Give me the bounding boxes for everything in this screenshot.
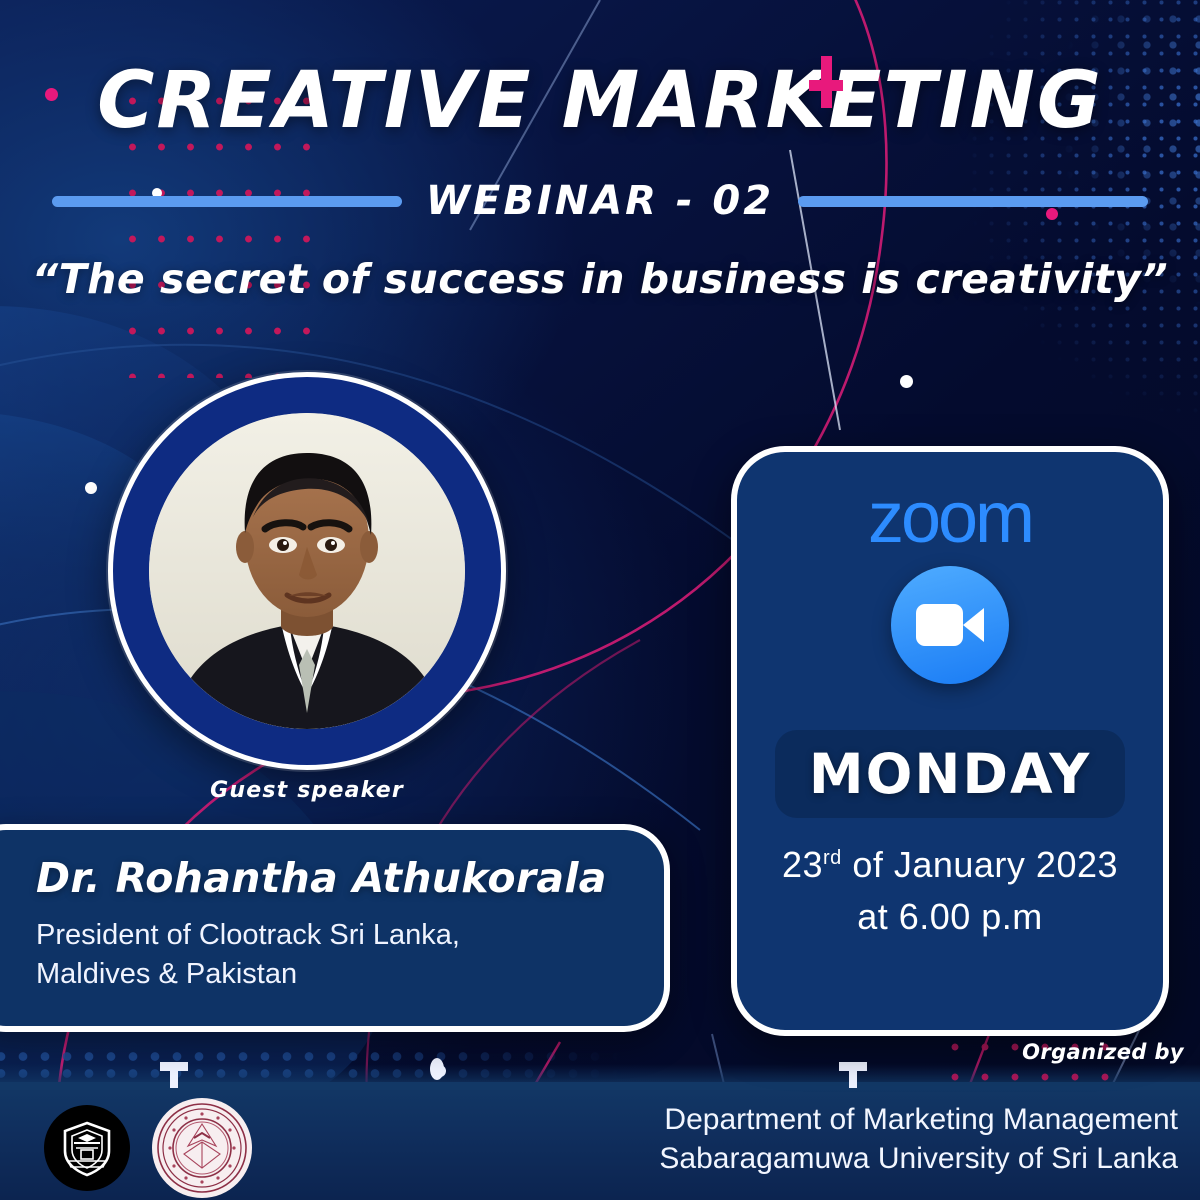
pin-marker-top (160, 1062, 188, 1071)
event-date-ordinal: rd (823, 847, 842, 869)
zoom-wordmark: zoom (868, 482, 1032, 554)
department-badge-logo (44, 1105, 130, 1191)
divider-right (798, 196, 1148, 207)
pin-marker-top (839, 1062, 867, 1071)
subtitle-row: WEBINAR - 02 (0, 178, 1200, 224)
sabaragamuwa-university-seal (152, 1098, 252, 1198)
speaker-info-card: Dr. Rohantha Athukorala President of Clo… (0, 824, 670, 1032)
speaker-role-line2: Maldives & Pakistan (36, 955, 634, 994)
camera-lens (963, 608, 984, 642)
speaker-role-line1: President of Clootrack Sri Lanka, (36, 916, 634, 955)
organizer-university: Sabaragamuwa University of Sri Lanka (659, 1139, 1178, 1178)
speaker-role: President of Clootrack Sri Lanka, Maldiv… (36, 916, 634, 994)
halftone-dots-bottom-left (0, 1048, 710, 1100)
accent-dot-white (900, 375, 913, 388)
guest-speaker-label: Guest speaker (108, 778, 506, 803)
poster-subtitle: WEBINAR - 02 (426, 178, 774, 224)
organized-by-label: Organized by (1022, 1040, 1184, 1064)
event-date-rest: of January 2023 (842, 844, 1118, 885)
accent-dot-white (434, 1065, 446, 1077)
organizer-department: Department of Marketing Management (659, 1100, 1178, 1139)
event-details-card: zoom MONDAY 23rd of January 2023 at 6.00… (731, 446, 1169, 1036)
event-day: MONDAY (809, 742, 1091, 806)
pin-marker (849, 1066, 857, 1088)
accent-oval (430, 1058, 444, 1080)
poster-quote: “The secret of success in business is cr… (0, 255, 1200, 303)
event-date-day: 23 (782, 844, 823, 885)
accent-dot-white (85, 482, 97, 494)
event-time: at 6.00 p.m (857, 896, 1043, 938)
speaker-name: Dr. Rohantha Athukorala (36, 854, 634, 902)
webinar-poster: CREATIVE MARKETING WEBINAR - 02 “The sec… (0, 0, 1200, 1200)
speaker-photo-frame (108, 372, 506, 770)
university-seal-icon (156, 1102, 248, 1194)
camera-body (916, 604, 963, 646)
day-badge: MONDAY (775, 730, 1125, 818)
pin-marker (170, 1066, 178, 1088)
video-camera-icon (916, 604, 984, 646)
divider-left (52, 196, 402, 207)
event-date: 23rd of January 2023 (782, 844, 1118, 886)
shield-icon (56, 1117, 118, 1179)
organizer-text: Department of Marketing Management Sabar… (659, 1100, 1178, 1178)
avatar (149, 413, 465, 729)
organizer-logos (44, 1098, 252, 1198)
pink-cross-accent-icon (809, 80, 843, 91)
poster-title: CREATIVE MARKETING (0, 56, 1200, 146)
speaker-portrait-illustration (149, 413, 465, 729)
zoom-app-icon[interactable] (891, 566, 1009, 684)
